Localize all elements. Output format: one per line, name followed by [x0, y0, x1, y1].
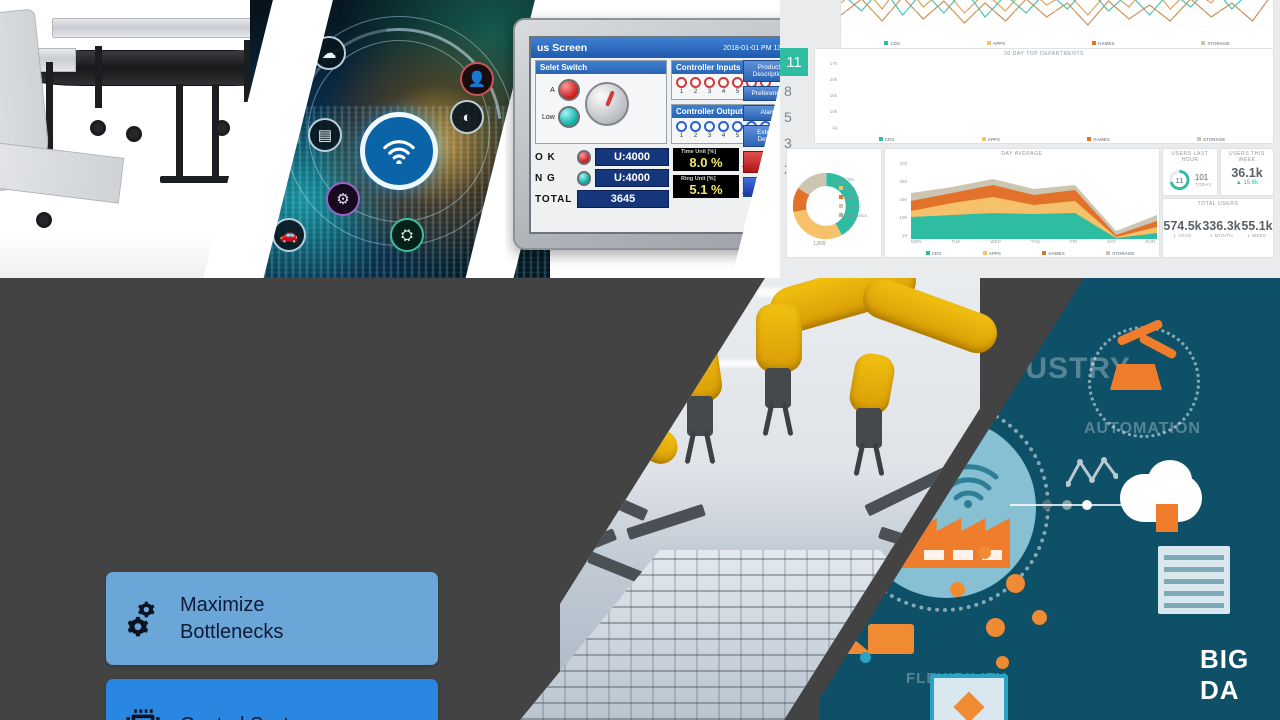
- analytics-dashboard-photo: CDS APPS GAMES STORAGE 11 8 5 3 2 30 DA: [780, 0, 1280, 278]
- bar-y-tick: 20k: [830, 77, 837, 82]
- network-node: [978, 546, 991, 559]
- area-y-tick: 280: [899, 179, 907, 184]
- belt-guide: [556, 471, 649, 521]
- weekday-tick: FRI: [1070, 239, 1077, 244]
- bar-y-tick: 10k: [830, 109, 837, 114]
- io-num: 1: [676, 133, 687, 139]
- feature-label-line1: Maximize: [180, 594, 264, 616]
- area-y-tick: 100: [899, 215, 907, 220]
- feature-button-control-systems[interactable]: Control Systems: [106, 679, 438, 720]
- counter-row: TOTAL 3645: [535, 190, 669, 208]
- io-num: 1: [676, 89, 687, 95]
- leg-foot: [160, 176, 236, 183]
- legend-storage: STORAGE: [1201, 41, 1229, 46]
- ring-value: 11: [1175, 176, 1183, 185]
- feature-label-line1: Control Systems: [180, 714, 327, 720]
- ng-lamp: [577, 171, 591, 186]
- io-num: 5: [732, 133, 743, 139]
- robot-gripper: [856, 408, 882, 448]
- area-chart-title: DAY AVERAGE: [885, 149, 1159, 157]
- settings-icon: ⚙: [326, 182, 360, 216]
- area-y-tick: 190: [899, 197, 907, 202]
- io-num: 4: [718, 133, 729, 139]
- meter-display: Ring Unit [%] 5.1 %: [673, 175, 739, 198]
- donut-card: CDs Apps Games Storage Electronics 2,067…: [786, 148, 882, 258]
- donut-legend-item: Games: [839, 193, 867, 202]
- kpi-sub-value: 101: [1195, 173, 1212, 182]
- io-num: 3: [704, 133, 715, 139]
- output-led[interactable]: [718, 121, 729, 132]
- kpi-sub-label: TODAY: [1195, 182, 1212, 187]
- area-y-tick: 370: [899, 161, 907, 166]
- area-chart-svg: [911, 159, 1157, 239]
- server-rack-lines: [1164, 552, 1224, 608]
- legend-apps: APPS: [982, 137, 1000, 142]
- total-period: 1 MONTH: [1202, 233, 1240, 238]
- input-led[interactable]: [690, 77, 701, 88]
- caster-wheel: [36, 212, 52, 228]
- weekday-tick: THU: [1031, 239, 1040, 244]
- input-led[interactable]: [732, 77, 743, 88]
- io-num: 2: [690, 89, 701, 95]
- kpi-delta: ▲ 15.6k: [1221, 180, 1273, 186]
- meter-value: 5.1 %: [689, 182, 722, 197]
- total-period: 1 WEEK: [1241, 233, 1272, 238]
- slide-root: ☁ 👤 ◐ ▤ ⚙ 🚗 ⛭ us Screen 2018-01-01 PM 13…: [0, 0, 1280, 720]
- weekday-axis: MONTUEWEDTHUFRISATSUN: [911, 239, 1155, 244]
- caster-wheel: [126, 126, 142, 142]
- total-period: 1 YEAR: [1163, 233, 1201, 238]
- counter-row: N G U:4000: [535, 169, 669, 187]
- kpi-label: USERS THIS WEEK: [1221, 149, 1273, 163]
- weekday-tick: SAT: [1107, 239, 1115, 244]
- legend-apps: APPS: [987, 41, 1005, 46]
- hmi-titlebar: us Screen 2018-01-01 PM 13:06: [531, 38, 797, 58]
- weekday-tick: MON: [911, 239, 922, 244]
- input-led[interactable]: [704, 77, 715, 88]
- status-lamp-teal[interactable]: [558, 106, 580, 128]
- legend-games: GAMES: [1087, 137, 1110, 142]
- total-item: 55.1k 1 WEEK: [1241, 219, 1272, 238]
- counters-group: O K U:4000 N G U:4000 TOTAL: [535, 148, 669, 211]
- area-chart-legend: CDS APPS GAMES STORAGE: [905, 250, 1155, 256]
- bar-y-tick: 15k: [830, 93, 837, 98]
- gears-icon: [106, 598, 180, 640]
- counter-value: U:4000: [595, 169, 669, 187]
- meter-display: Time Unit [%] 8.0 %: [673, 148, 739, 171]
- label-big-data: BIG DA: [1200, 644, 1280, 706]
- users-this-week-card: USERS THIS WEEK 36.1k ▲ 15.6k: [1220, 148, 1274, 196]
- counter-label: TOTAL: [535, 194, 573, 205]
- top-image-strip: ☁ 👤 ◐ ▤ ⚙ 🚗 ⛭ us Screen 2018-01-01 PM 13…: [0, 0, 1280, 278]
- robot-gripper: [687, 396, 713, 436]
- output-led[interactable]: [676, 121, 687, 132]
- select-switch-box: Selet Switch A Low: [535, 60, 667, 144]
- line-chart-svg: [841, 0, 1273, 35]
- support-leg: [95, 46, 102, 108]
- laptop-icon: ▤: [308, 118, 342, 152]
- feature-label: Maximize Bottlenecks: [180, 592, 293, 646]
- io-num: 5: [732, 89, 743, 95]
- side-number: 8: [784, 78, 792, 104]
- caster-wheel: [90, 120, 106, 136]
- users-last-hour-card: USERS LAST HOUR 11 101 TODAY: [1162, 148, 1218, 196]
- support-leg: [176, 84, 183, 177]
- io-num: 3: [704, 89, 715, 95]
- truck-wheel: [860, 652, 871, 663]
- feature-label: Control Systems: [180, 712, 337, 720]
- feature-label-line2: Bottlenecks: [180, 621, 283, 643]
- ok-lamp: [577, 150, 591, 165]
- donut-legend-item: Storage: [839, 202, 867, 211]
- input-led[interactable]: [718, 77, 729, 88]
- meter-value: 8.0 %: [689, 155, 722, 170]
- total-item: 574.5k 1 YEAR: [1163, 219, 1201, 238]
- total-item: 336.3k 1 MONTH: [1202, 219, 1240, 238]
- network-node: [996, 656, 1009, 669]
- legend-cds: CDS: [884, 41, 900, 46]
- donut-legend-item: Electronics: [839, 211, 867, 220]
- io-num: 2: [690, 133, 701, 139]
- legend-apps: APPS: [983, 251, 1001, 256]
- output-led[interactable]: [704, 121, 715, 132]
- counter-label: N G: [535, 173, 573, 184]
- output-led[interactable]: [690, 121, 701, 132]
- wifi-icon: [360, 112, 438, 190]
- users-badge: 11: [780, 48, 808, 76]
- weekday-tick: WED: [990, 239, 1001, 244]
- robot-arm-far: [600, 404, 683, 470]
- donut-label: 2,067: [831, 179, 844, 185]
- person-icon: 👤: [460, 62, 494, 96]
- area-chart-card: DAY AVERAGE 37028019010010 MONTUEWEDTHUF…: [884, 148, 1160, 258]
- cloud-shape: [1148, 460, 1192, 500]
- total-value: 574.5k: [1163, 219, 1201, 233]
- input-led[interactable]: [676, 77, 687, 88]
- cloud-upload-arrow: [1156, 504, 1178, 532]
- weekday-tick: SUN: [1145, 239, 1155, 244]
- robot-arm-lower: [857, 278, 1002, 359]
- bar-y-axis: 17k20k15k10k1g: [818, 61, 838, 129]
- bar-y-tick: 1g: [832, 125, 837, 130]
- total-value: 336.3k: [1202, 219, 1240, 233]
- stacked-bar-card: 30 DAY TOP DEPARTMENTS 17k20k15k10k1g CD…: [814, 48, 1274, 144]
- total-users-card: TOTAL USERS 574.5k 1 YEAR 336.3k 1 MONTH…: [1162, 198, 1274, 258]
- wifi-signal-icon: [938, 464, 1002, 516]
- ceiling-light: [590, 300, 710, 309]
- dashboard-surface: CDS APPS GAMES STORAGE 11 8 5 3 2 30 DA: [780, 0, 1280, 278]
- truck-body-icon: [868, 624, 914, 654]
- bottom-section: T INDUSTRY AUTOMATION FLEXIBILITY BIG DA: [0, 278, 1280, 720]
- donut-label: 1,809: [813, 241, 826, 247]
- counter-value: 3645: [577, 190, 669, 208]
- status-lamp-red[interactable]: [558, 79, 580, 101]
- stacked-bar-legend: CDS APPS GAMES STORAGE: [835, 136, 1269, 142]
- area-y-axis: 37028019010010: [888, 161, 908, 237]
- factory-icon: ⛭: [390, 218, 424, 252]
- microchip-icon: [106, 705, 180, 720]
- weekday-tick: TUE: [951, 239, 960, 244]
- total-users-label: TOTAL USERS: [1163, 199, 1273, 207]
- legend-storage: STORAGE: [1197, 137, 1225, 142]
- donut-legend-item: Apps: [839, 184, 867, 193]
- robot-base-icon: [1110, 364, 1162, 390]
- chart-line-icon: [1066, 454, 1118, 494]
- gauge-node-icon: ◐: [450, 100, 484, 134]
- counter-value: U:4000: [595, 148, 669, 166]
- network-node: [1006, 574, 1025, 593]
- stacked-bar-title: 30 DAY TOP DEPARTMENTS: [815, 49, 1273, 57]
- hmi-title-text: us Screen: [537, 42, 587, 54]
- robot-wrist: [756, 304, 802, 372]
- area-y-tick: 10: [902, 233, 907, 238]
- line-chart-legend: CDS APPS GAMES STORAGE: [841, 40, 1273, 46]
- lamp-label-low: Low: [542, 114, 555, 121]
- caster-wheel: [214, 120, 230, 136]
- robot-gripper: [765, 368, 791, 408]
- rotary-knob[interactable]: [585, 82, 629, 126]
- legend-games: GAMES: [1042, 251, 1065, 256]
- output-led[interactable]: [732, 121, 743, 132]
- io-num: 4: [718, 89, 729, 95]
- legend-storage: STORAGE: [1106, 251, 1134, 256]
- network-node: [986, 618, 1005, 637]
- kpi-label: USERS LAST HOUR: [1163, 149, 1217, 163]
- incline-conveyor-base: [0, 142, 124, 203]
- robot-wrist: [676, 338, 724, 405]
- lamp-label-a: A: [550, 87, 555, 94]
- select-switch-title: Selet Switch: [536, 61, 666, 74]
- stacked-bars: [837, 61, 1269, 129]
- feature-button-maximize-bottlenecks[interactable]: Maximize Bottlenecks: [106, 572, 438, 665]
- counter-label: O K: [535, 152, 573, 163]
- legend-games: GAMES: [1092, 41, 1115, 46]
- legend-cds: CDS: [879, 137, 895, 142]
- feature-button-stack: Maximize Bottlenecks: [106, 572, 438, 720]
- side-number: 5: [784, 104, 792, 130]
- network-node: [1032, 610, 1047, 625]
- kpi-value: 36.1k: [1221, 166, 1273, 180]
- progress-ring-icon: 11: [1168, 168, 1191, 192]
- legend-cds: CDS: [926, 251, 942, 256]
- bar-y-tick: 17k: [830, 61, 837, 66]
- network-node: [950, 582, 965, 597]
- counter-row: O K U:4000: [535, 148, 669, 166]
- total-value: 55.1k: [1241, 219, 1272, 233]
